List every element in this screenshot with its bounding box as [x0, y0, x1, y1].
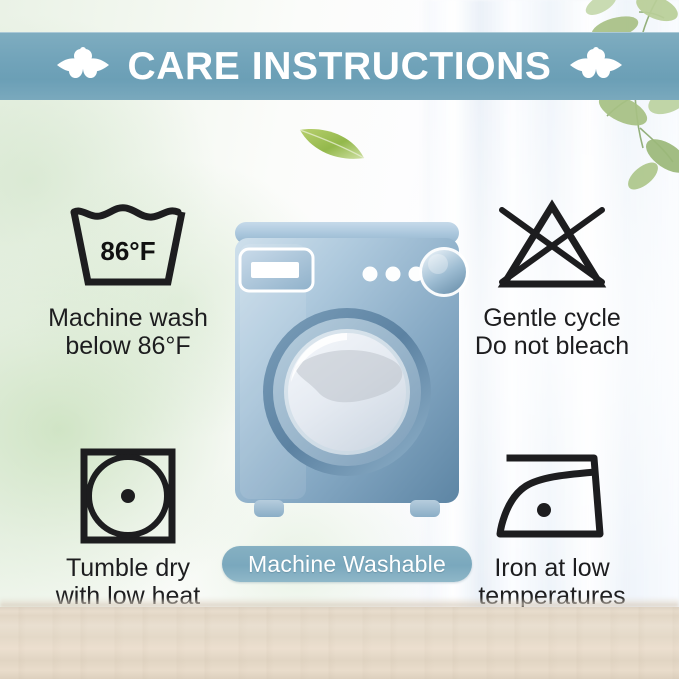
washing-machine-illustration	[222, 212, 472, 532]
triangle-crossed-out-icon	[482, 196, 622, 296]
machine-washable-badge: Machine Washable	[222, 546, 472, 582]
care-icon-caption: Machine wash below 86°F	[8, 304, 248, 360]
table-edge	[0, 597, 679, 607]
care-icon-machine-wash: 86°F Machine wash below 86°F	[8, 196, 248, 360]
iron-low-icon-wrap	[482, 446, 622, 546]
fleur-de-lis-icon	[568, 43, 624, 89]
care-instructions-infographic: CARE INSTRUCTIONS 86°F Machine wash belo…	[0, 0, 679, 679]
fleur-de-lis-icon	[55, 43, 111, 89]
wooden-table-surface	[0, 607, 679, 679]
plant-foliage-icon	[545, 0, 679, 203]
page-title: CARE INSTRUCTIONS	[127, 47, 551, 86]
table-grain	[0, 607, 679, 679]
caption-line-1: Tumble dry	[8, 554, 248, 582]
iron-low-icon	[482, 446, 622, 546]
badge-label: Machine Washable	[248, 551, 446, 578]
header-banner: CARE INSTRUCTIONS	[0, 32, 679, 100]
tumble-dry-low-icon-wrap	[58, 446, 198, 546]
floating-leaf-icon	[296, 118, 368, 168]
wash-tub-icon-wrap: 86°F	[58, 196, 198, 296]
caption-line-2: below 86°F	[8, 332, 248, 360]
care-icon-tumble-dry: Tumble dry with low heat	[8, 446, 248, 610]
wash-tub-temperature: 86°F	[58, 236, 198, 267]
tumble-dry-low-icon	[58, 446, 198, 546]
caption-line-1: Machine wash	[8, 304, 248, 332]
triangle-crossed-out-icon-wrap	[482, 196, 622, 296]
